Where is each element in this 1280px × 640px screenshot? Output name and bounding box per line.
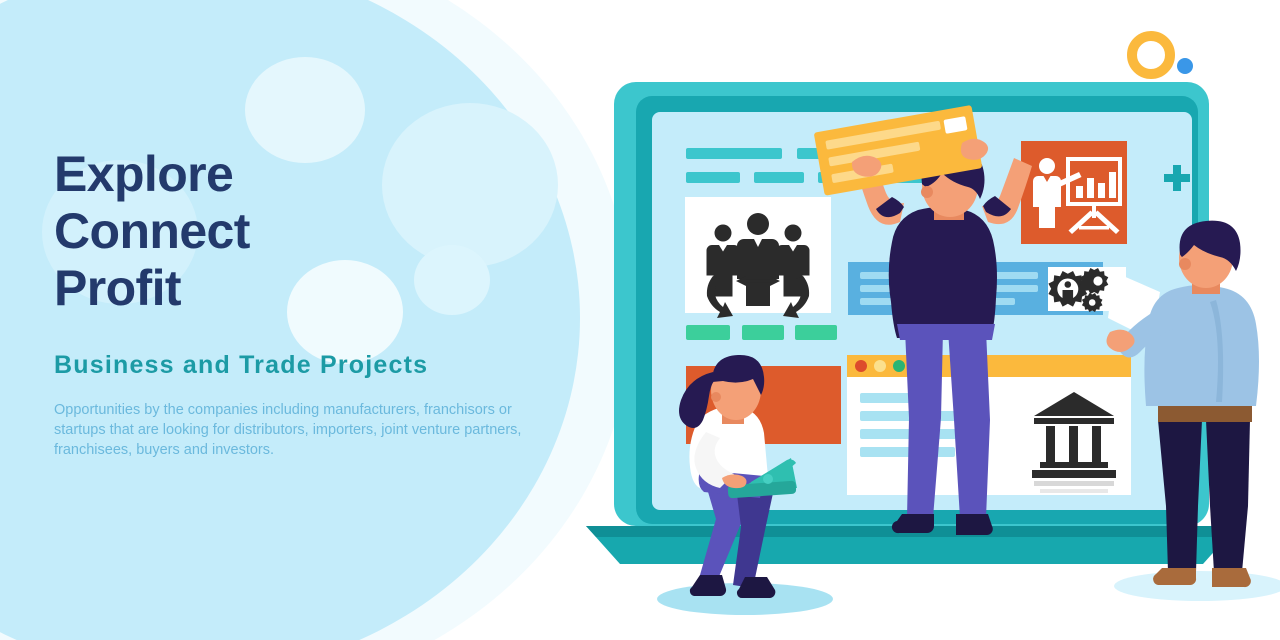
woman-laptop-logo (763, 474, 773, 484)
woman-ear (711, 392, 721, 402)
ring-decor-icon (1132, 36, 1170, 74)
browser-titlebar (847, 355, 1131, 377)
browser-dot-red (855, 360, 867, 372)
headline-line-3: Profit (54, 260, 574, 317)
page-subtitle: Business and Trade Projects (54, 317, 574, 380)
screen-green-bars (686, 325, 837, 340)
browser-dot-yellow (874, 360, 886, 372)
headline-line-1: Explore (54, 146, 574, 203)
hero-banner: Explore Connect Profit Business and Trad… (0, 0, 1280, 640)
hero-copy-block: Explore Connect Profit Business and Trad… (54, 146, 574, 460)
manr-torso (1144, 285, 1259, 406)
manc-ear (921, 186, 933, 198)
manc-shoe-right (956, 514, 993, 535)
woman-shoe-back (690, 575, 726, 596)
manr-ear (1179, 258, 1191, 270)
page-title: Explore Connect Profit (54, 146, 574, 317)
manr-shoe-right (1212, 568, 1251, 587)
manr-shoe-left (1153, 568, 1196, 585)
manc-torso (889, 207, 997, 338)
dot-decor-icon (1177, 58, 1193, 74)
manc-hip (897, 324, 995, 340)
browser-dot-green (893, 360, 905, 372)
headline-line-2: Connect (54, 203, 574, 260)
page-description: Opportunities by the companies including… (54, 380, 554, 460)
manr-floor-shadow (1114, 571, 1280, 601)
